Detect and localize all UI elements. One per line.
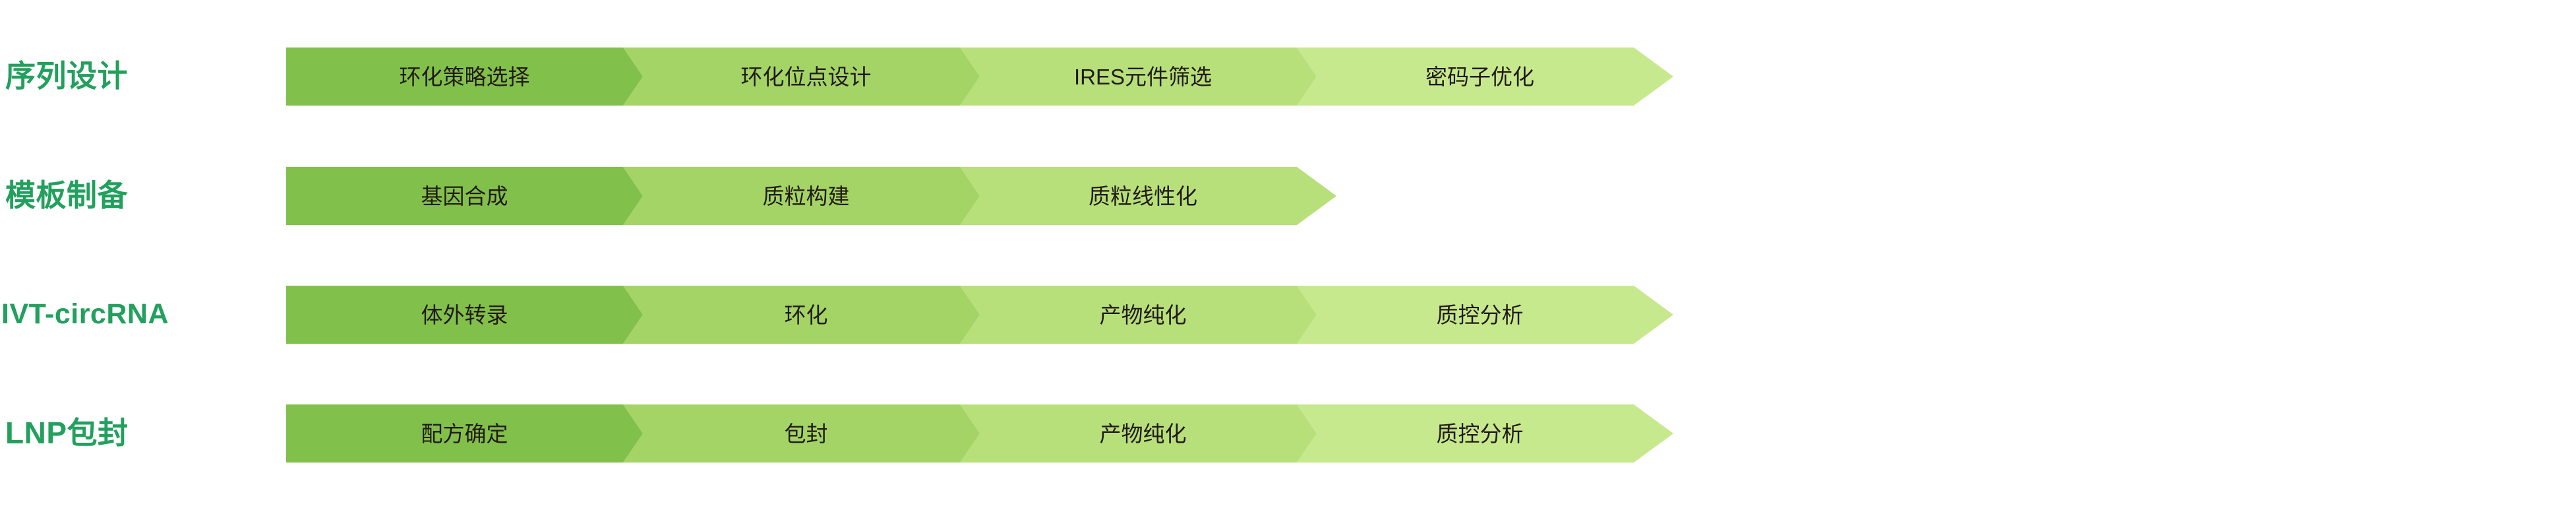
step-track: 配方确定包封产物纯化质控分析 [286,404,1654,463]
workflow-row: 序列设计环化策略选择环化位点设计IRES元件筛选密码子优化 [0,40,2576,112]
step-track: 基因合成质粒构建质粒线性化 [286,167,1317,225]
workflow-step-label: 环化位点设计 [741,66,872,88]
workflow-step[interactable]: 质粒线性化 [960,167,1336,225]
workflow-step-label: IRES元件筛选 [1074,66,1212,88]
workflow-step[interactable]: IRES元件筛选 [960,48,1317,106]
workflow-step[interactable]: 产物纯化 [960,286,1317,344]
step-track: 环化策略选择环化位点设计IRES元件筛选密码子优化 [286,48,1654,106]
workflow-step-label: 包封 [785,423,828,445]
workflow-step[interactable]: 产物纯化 [960,404,1317,463]
workflow-step[interactable]: 包封 [623,404,980,463]
workflow-step-label: 产物纯化 [1100,423,1187,445]
workflow-step-label: 配方确定 [421,423,508,445]
workflow-step-label: 环化 [785,304,828,326]
workflow-step[interactable]: 质控分析 [1297,404,1673,463]
workflow-step-label: 基因合成 [421,185,508,207]
workflow-step[interactable]: 环化策略选择 [286,48,643,106]
workflow-step-label: 环化策略选择 [400,66,530,88]
workflow-step[interactable]: 质粒构建 [623,167,980,225]
workflow-step[interactable]: 质控分析 [1297,286,1673,344]
workflow-step[interactable]: 基因合成 [286,167,643,225]
workflow-step-label: 产物纯化 [1100,304,1187,326]
step-track: 体外转录环化产物纯化质控分析 [286,286,1654,344]
workflow-step[interactable]: 环化位点设计 [623,48,980,106]
workflow-step-label: 质粒线性化 [1089,185,1197,207]
workflow-diagram: 序列设计环化策略选择环化位点设计IRES元件筛选密码子优化模板制备基因合成质粒构… [0,0,2576,512]
workflow-step-label: 质控分析 [1437,423,1524,445]
row-label: 序列设计 [0,40,270,112]
row-label: IVT-circRNA [0,278,270,350]
workflow-step[interactable]: 环化 [623,286,980,344]
workflow-row: 模板制备基因合成质粒构建质粒线性化 [0,159,2576,232]
workflow-step-label: 质控分析 [1437,304,1524,326]
row-label: LNP包封 [0,397,270,469]
workflow-step[interactable]: 体外转录 [286,286,643,344]
workflow-step-label: 体外转录 [421,304,508,326]
workflow-step-label: 密码子优化 [1425,66,1534,88]
workflow-step[interactable]: 密码子优化 [1297,48,1673,106]
row-label: 模板制备 [0,159,270,232]
workflow-row: IVT-circRNA体外转录环化产物纯化质控分析 [0,278,2576,350]
workflow-step[interactable]: 配方确定 [286,404,643,463]
workflow-step-label: 质粒构建 [763,185,850,207]
workflow-row: LNP包封配方确定包封产物纯化质控分析 [0,397,2576,469]
